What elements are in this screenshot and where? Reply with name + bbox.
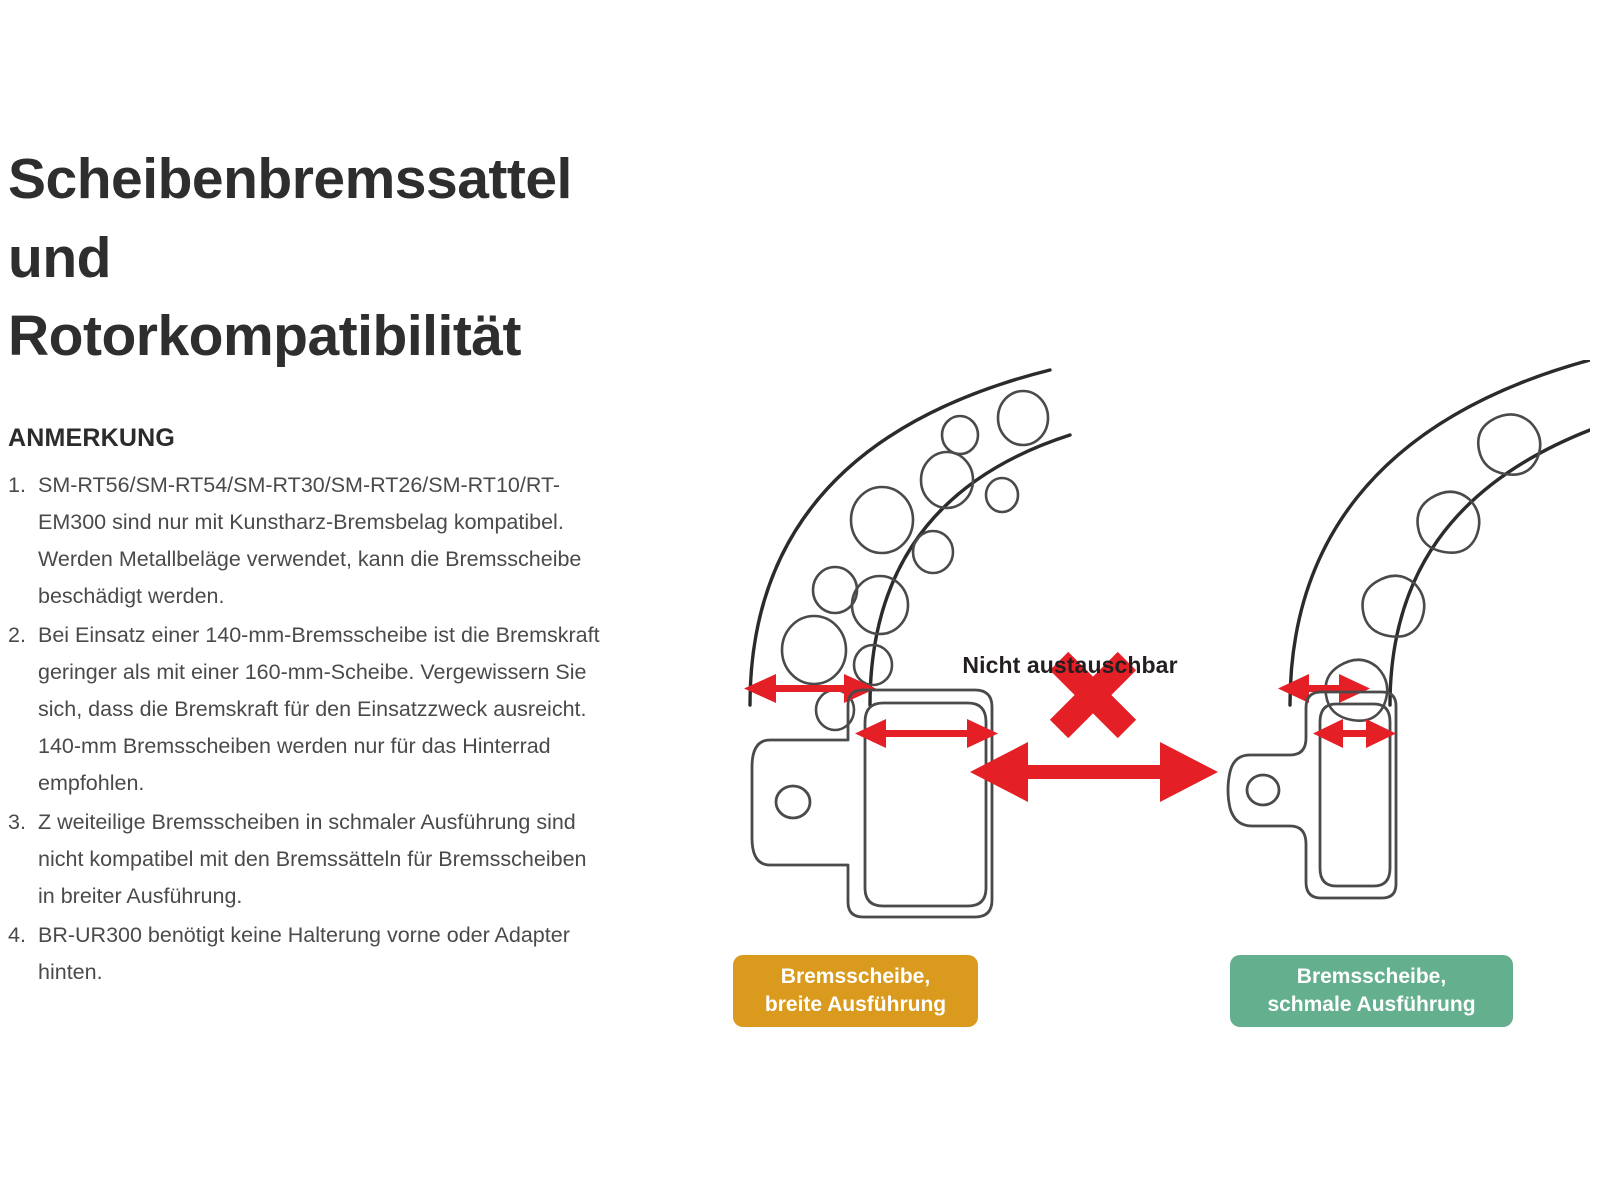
red-width-arrow-icon	[855, 719, 998, 748]
wide-brake-pad-icon	[752, 690, 992, 917]
list-item-text: Bei Einsatz einer 140-mm-Bremsscheibe is…	[38, 617, 608, 802]
list-item-number: 4.	[8, 917, 38, 954]
not-interchangeable-label: Nicht austauschbar	[945, 652, 1195, 679]
list-item-text: BR-UR300 benötigt keine Halterung vorne …	[38, 917, 608, 991]
narrow-rotor-with-slot-holes-icon	[1290, 360, 1590, 705]
list-item: 4. BR-UR300 benötigt keine Halterung vor…	[8, 917, 608, 991]
list-item: 1. SM-RT56/SM-RT54/SM-RT30/SM-RT26/SM-RT…	[8, 467, 608, 615]
list-item: 3. Z weiteilige Bremsscheiben in schmale…	[8, 804, 608, 915]
status-badge-narrow-rotor: Bremsscheibe, schmale Ausführung	[1230, 955, 1513, 1027]
page-title: Scheibenbremssattel und Rotorkompatibili…	[8, 140, 608, 376]
list-item: 2. Bei Einsatz einer 140-mm-Bremsscheibe…	[8, 617, 608, 802]
status-badge-wide-rotor: Bremsscheibe, breite Ausführung	[733, 955, 978, 1027]
note-heading: ANMERKUNG	[8, 424, 608, 453]
red-width-arrow-icon	[744, 674, 876, 703]
red-width-arrow-icon	[1313, 719, 1396, 748]
list-item-text: Z weiteilige Bremsscheiben in schmaler A…	[38, 804, 608, 915]
narrow-rotor-slots	[1326, 414, 1541, 720]
page-root: Scheibenbremssattel und Rotorkompatibili…	[0, 0, 1600, 1200]
list-item-number: 1.	[8, 467, 38, 504]
list-item-number: 2.	[8, 617, 38, 654]
red-double-arrow-icon	[970, 742, 1218, 802]
list-item-text: SM-RT56/SM-RT54/SM-RT30/SM-RT26/SM-RT10/…	[38, 467, 608, 615]
text-column: Scheibenbremssattel und Rotorkompatibili…	[8, 140, 608, 993]
wide-rotor-holes	[782, 391, 1048, 730]
note-list: 1. SM-RT56/SM-RT54/SM-RT30/SM-RT26/SM-RT…	[8, 467, 608, 991]
list-item-number: 3.	[8, 804, 38, 841]
